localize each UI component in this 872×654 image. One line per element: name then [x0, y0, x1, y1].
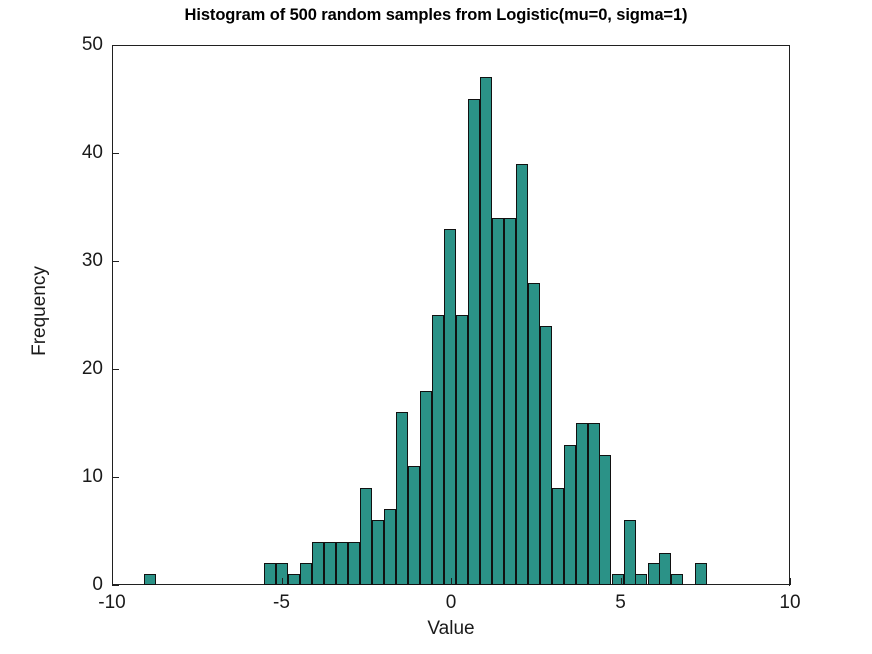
histogram-bar: [420, 391, 432, 585]
y-tick-mark: [112, 45, 119, 46]
histogram-bar: [396, 412, 408, 585]
y-axis-label: Frequency: [29, 211, 51, 411]
y-tick-label: 50: [43, 35, 103, 55]
x-axis-label: Value: [112, 618, 790, 640]
x-tick-mark: [112, 578, 113, 585]
y-tick-label: 10: [43, 467, 103, 487]
histogram-bar: [516, 164, 528, 585]
histogram-bar: [456, 315, 468, 585]
histogram-bar: [480, 77, 492, 585]
histogram-bar: [264, 563, 276, 585]
histogram-bar: [444, 229, 456, 585]
histogram-bar: [659, 553, 671, 585]
axis-frame-top: [112, 45, 790, 46]
x-tick-label: 10: [755, 592, 825, 614]
histogram-bar: [372, 520, 384, 585]
y-tick-label: 20: [43, 359, 103, 379]
histogram-bar: [552, 488, 564, 585]
histogram-bar: [384, 509, 396, 585]
histogram-bar: [612, 574, 624, 585]
x-tick-mark: [282, 578, 283, 585]
x-tick-mark: [451, 578, 452, 585]
histogram-bar: [564, 445, 576, 585]
y-tick-mark: [112, 261, 119, 262]
x-tick-label: -5: [247, 592, 317, 614]
histogram-bar: [408, 466, 420, 585]
y-tick-mark: [112, 477, 119, 478]
histogram-bar: [504, 218, 516, 585]
y-tick-mark: [112, 369, 119, 370]
histogram-bar: [288, 574, 300, 585]
histogram-bar: [528, 283, 540, 585]
histogram-bar: [599, 455, 611, 585]
histogram-bar: [468, 99, 480, 585]
histogram-bar: [635, 574, 647, 585]
histogram-bar: [576, 423, 588, 585]
histogram-bar: [360, 488, 372, 585]
x-tick-label: -10: [77, 592, 147, 614]
x-tick-label: 5: [586, 592, 656, 614]
histogram-bar: [671, 574, 683, 585]
histogram-bar: [624, 520, 636, 585]
chart-title: Histogram of 500 random samples from Log…: [0, 6, 872, 25]
histogram-bar: [336, 542, 348, 585]
x-tick-mark: [621, 578, 622, 585]
figure-canvas: Histogram of 500 random samples from Log…: [0, 0, 872, 654]
histogram-bar: [324, 542, 336, 585]
histogram-bar: [588, 423, 600, 585]
histogram-bar: [300, 563, 312, 585]
y-tick-mark: [112, 585, 119, 586]
x-tick-label: 0: [416, 592, 486, 614]
histogram-bar: [648, 563, 660, 585]
histogram-bar: [492, 218, 504, 585]
histogram-bar: [695, 563, 707, 585]
y-tick-label: 30: [43, 251, 103, 271]
y-tick-label: 40: [43, 143, 103, 163]
histogram-bar: [540, 326, 552, 585]
histogram-bar: [144, 574, 156, 585]
histogram-bar: [432, 315, 444, 585]
axis-frame-right: [789, 45, 790, 586]
x-tick-mark: [790, 578, 791, 585]
histogram-bar: [348, 542, 360, 585]
y-tick-mark: [112, 153, 119, 154]
histogram-bar: [312, 542, 324, 585]
